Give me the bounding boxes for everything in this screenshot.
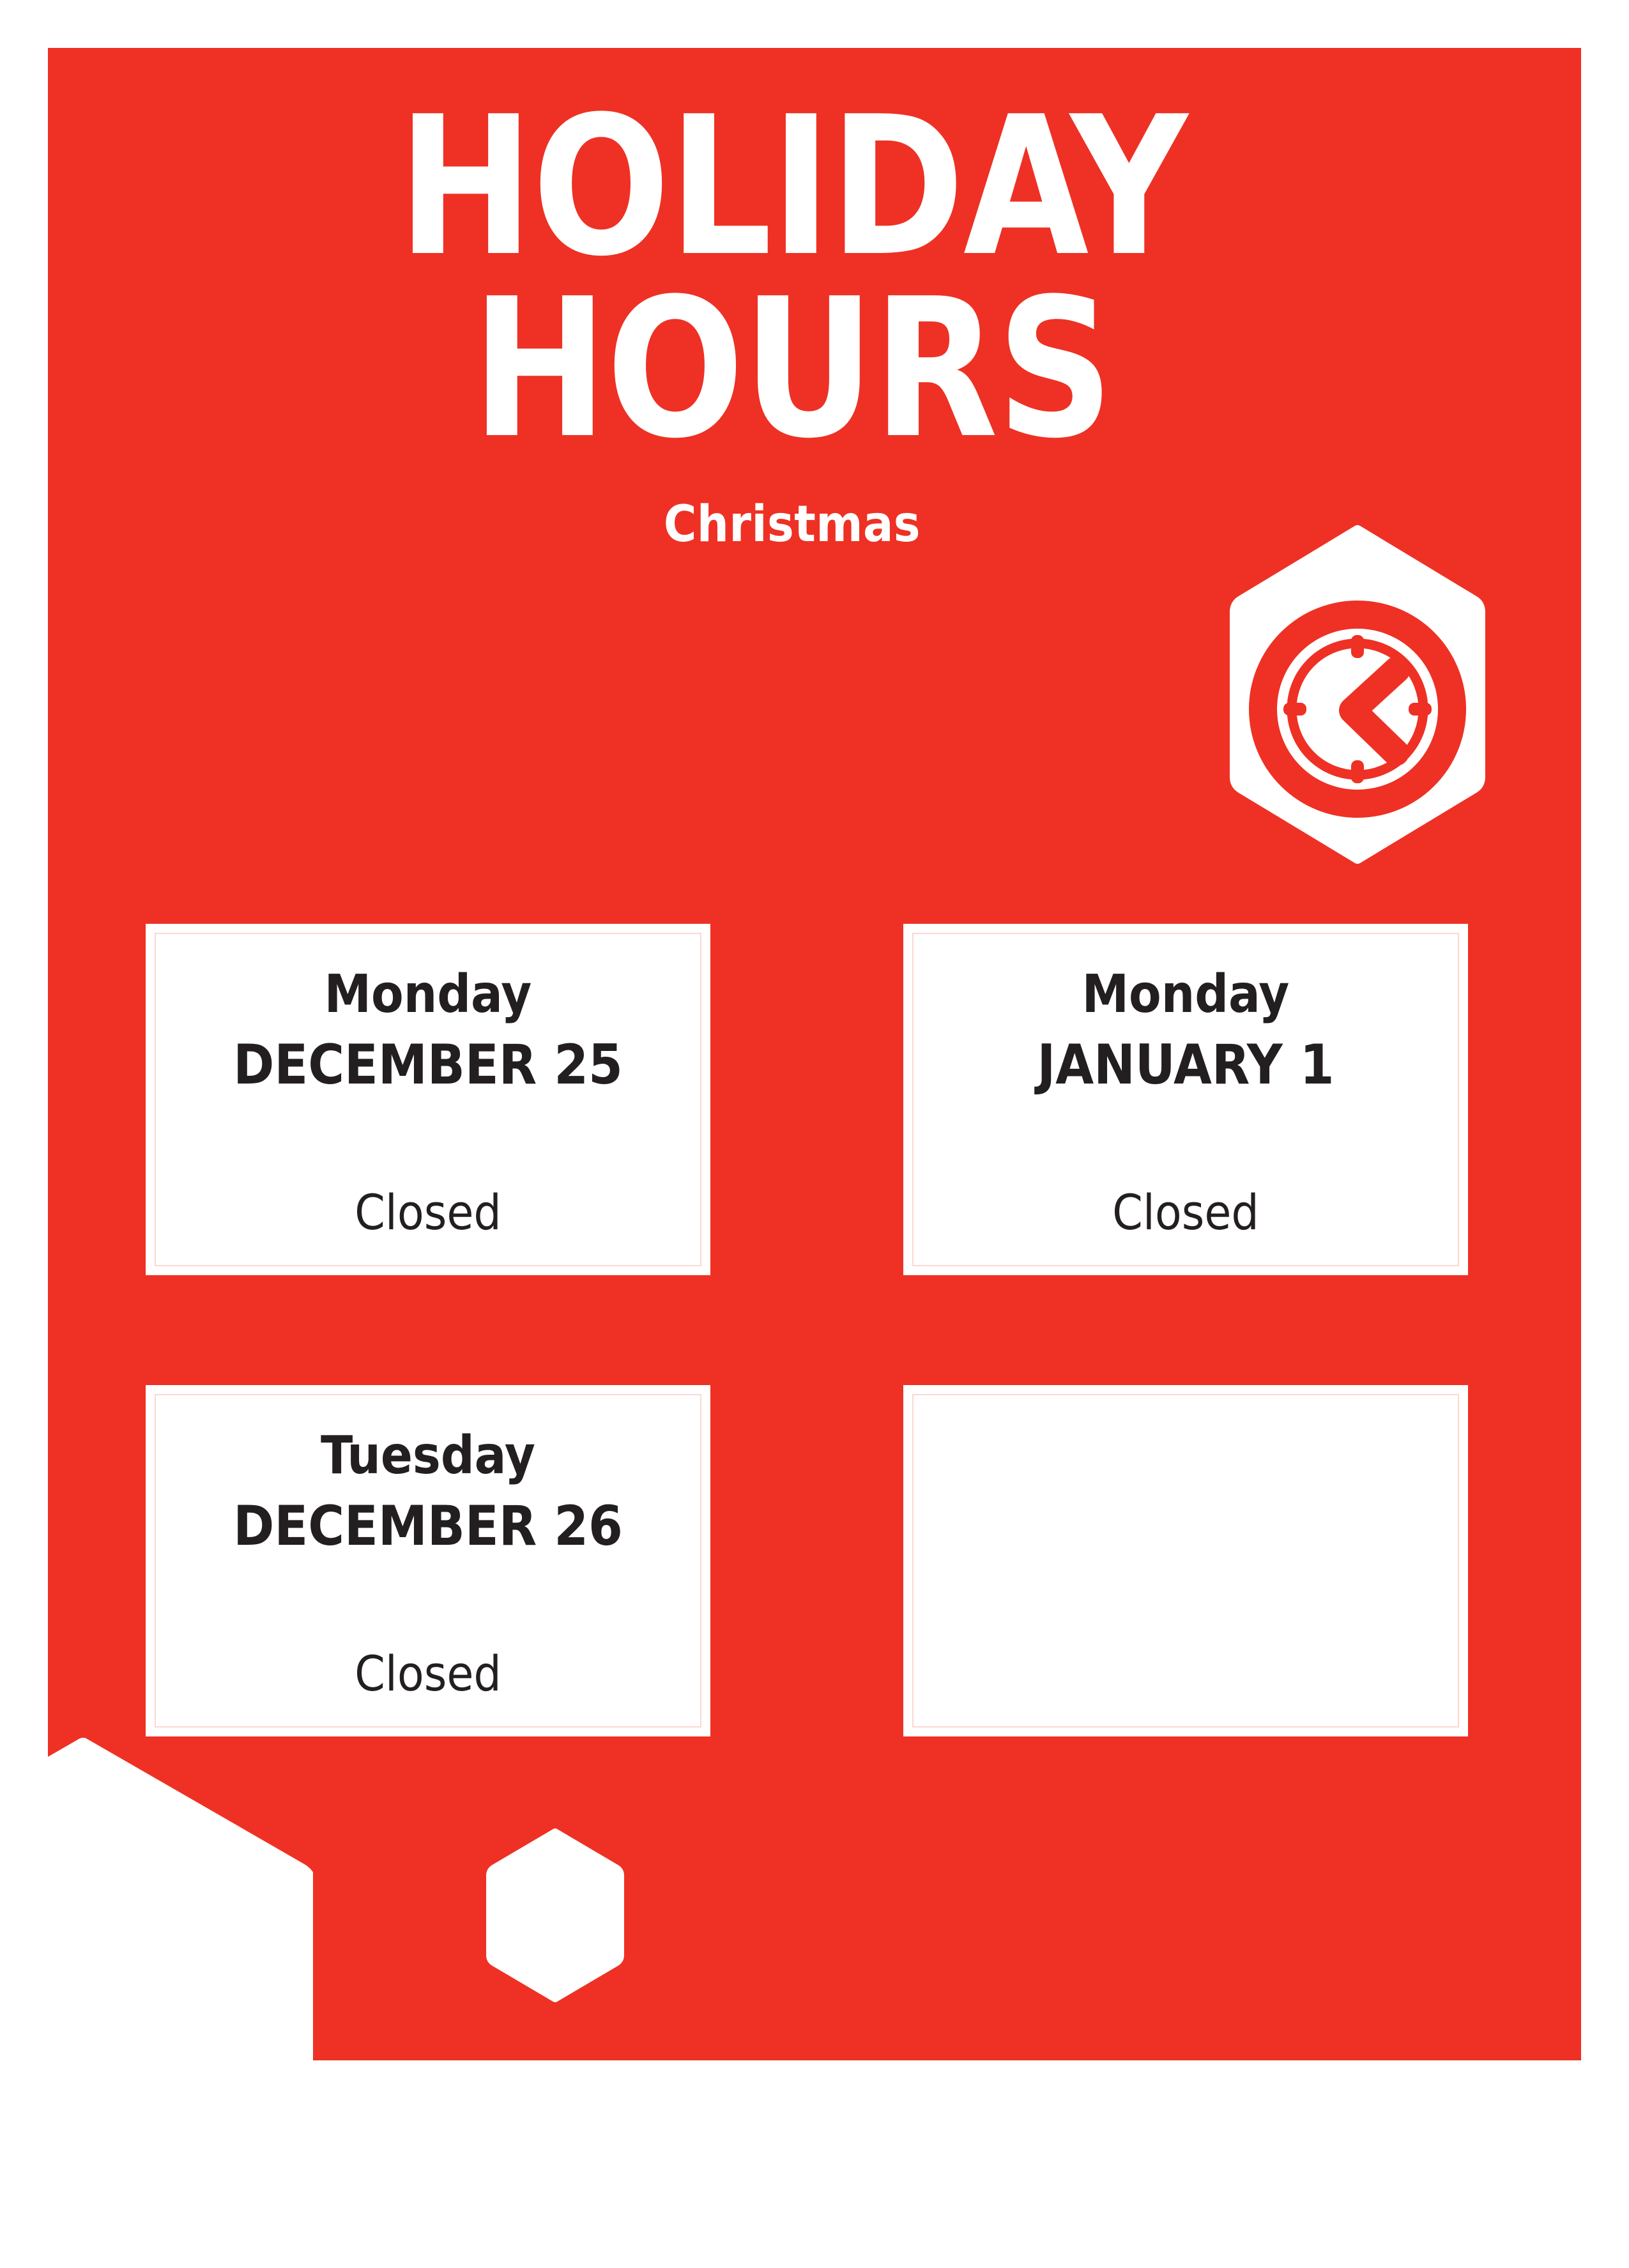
clock-tick-9 bbox=[1283, 703, 1306, 716]
card-status: Closed bbox=[355, 1188, 501, 1237]
card-date: JANUARY 1 bbox=[1037, 1038, 1334, 1092]
small-hexagon-decoration bbox=[484, 1828, 626, 2002]
hexagon-shape bbox=[490, 1832, 620, 1998]
clock-badge bbox=[1230, 525, 1485, 864]
card-status: Closed bbox=[355, 1650, 501, 1698]
clock-tick-6 bbox=[1351, 760, 1364, 783]
card-weekday: Tuesday bbox=[321, 1430, 535, 1482]
bottom-white-margin bbox=[0, 2060, 1629, 2108]
large-hexagon-decoration bbox=[0, 1738, 313, 2268]
card-weekday: Monday bbox=[1082, 969, 1290, 1021]
poster-canvas: HOLIDAY HOURS Christmas bbox=[0, 0, 1629, 2108]
card-weekday: Monday bbox=[325, 969, 532, 1021]
hours-card-empty[interactable] bbox=[903, 1385, 1468, 1736]
hexagon-shape bbox=[0, 1745, 309, 2268]
card-date: DECEMBER 25 bbox=[233, 1038, 623, 1092]
clock-tick-12 bbox=[1351, 635, 1364, 658]
clock-tick-3 bbox=[1409, 703, 1432, 716]
card-date: DECEMBER 26 bbox=[233, 1499, 623, 1554]
hours-card[interactable]: Tuesday DECEMBER 26 Closed bbox=[146, 1385, 710, 1736]
hours-card[interactable]: Monday JANUARY 1 Closed bbox=[903, 924, 1468, 1275]
hours-card[interactable]: Monday DECEMBER 25 Closed bbox=[146, 924, 710, 1275]
card-status: Closed bbox=[1112, 1188, 1259, 1237]
hours-card-grid: Monday DECEMBER 25 Closed Monday JANUARY… bbox=[146, 924, 1468, 1736]
clock-icon bbox=[1263, 615, 1452, 804]
